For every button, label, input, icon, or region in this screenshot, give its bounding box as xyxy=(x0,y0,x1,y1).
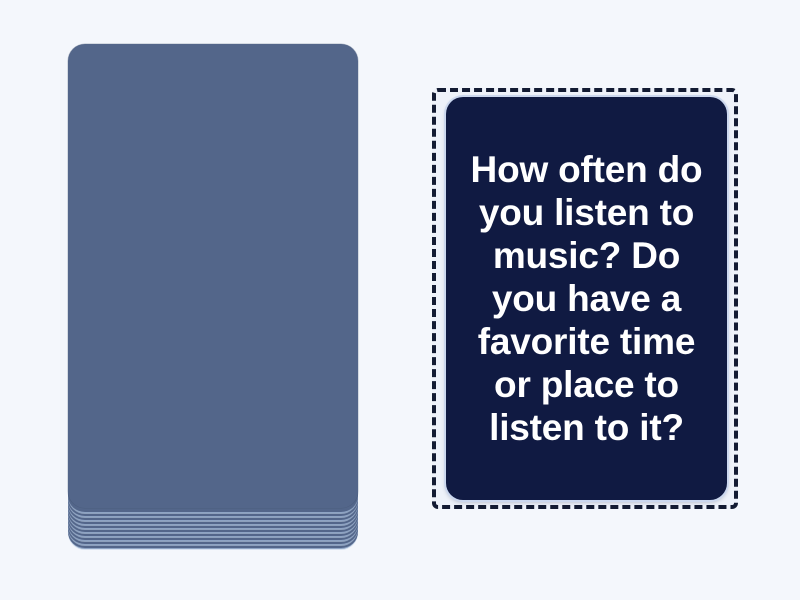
question-card[interactable]: How often do you listen to music? Do you… xyxy=(446,97,727,500)
question-card-text: How often do you listen to music? Do you… xyxy=(460,148,713,449)
deck-top-card[interactable] xyxy=(68,44,358,508)
card-deck[interactable] xyxy=(68,44,358,549)
flashcard-stage: How often do you listen to music? Do you… xyxy=(0,0,800,600)
